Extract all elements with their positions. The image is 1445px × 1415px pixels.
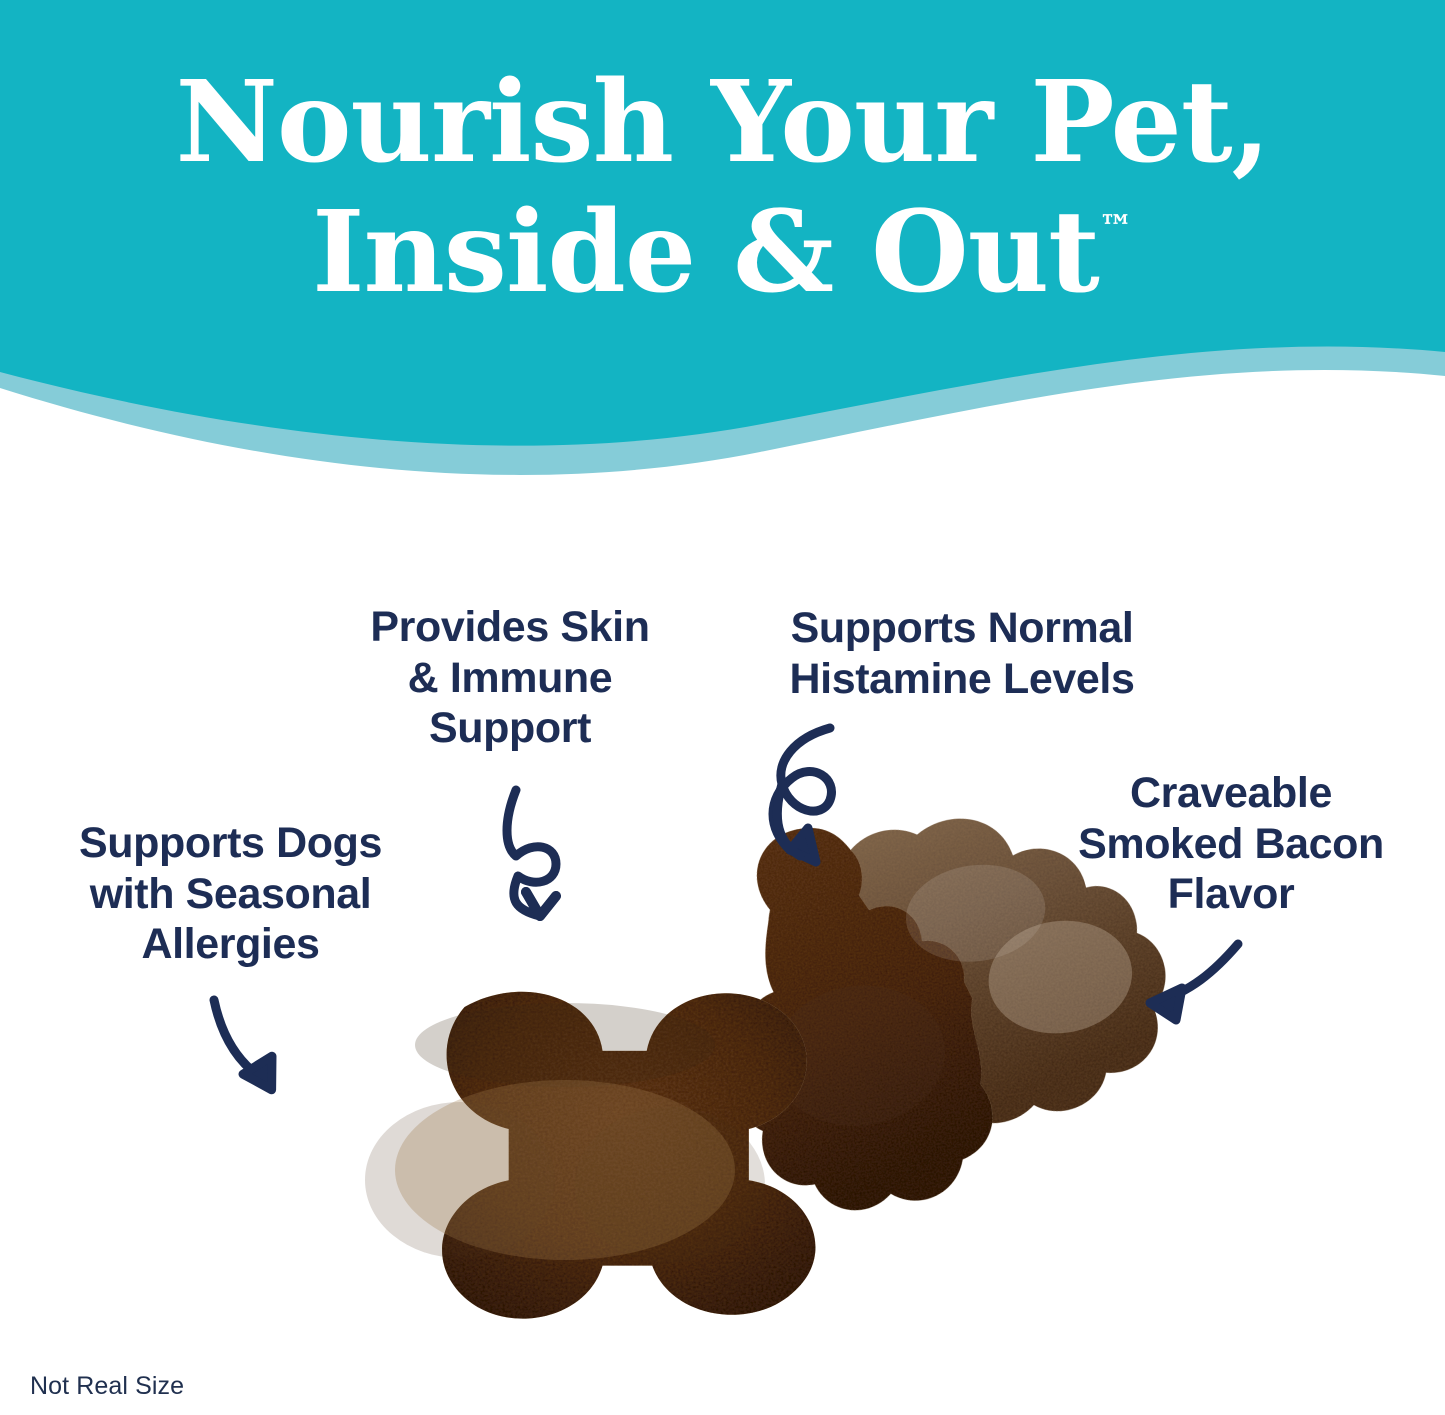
treat-front [365, 992, 815, 1319]
callout-skin-immune-support: Provides Skin & Immune Support [300, 602, 720, 754]
callout-seasonal-allergies: Supports Dogs with Seasonal Allergies [18, 818, 443, 970]
product-feature-image: Nourish Your Pet, Inside & Out™ [0, 0, 1445, 1415]
callout-histamine-levels: Supports Normal Histamine Levels [722, 603, 1202, 704]
product-photo-group [0, 0, 1445, 1415]
treat-front-highlight-top [415, 1003, 715, 1087]
callout-bacon-flavor: Craveable Smoked Bacon Flavor [1022, 768, 1440, 920]
treat-front-crumb-center [395, 1080, 735, 1260]
not-real-size-note: Not Real Size [30, 1372, 184, 1401]
